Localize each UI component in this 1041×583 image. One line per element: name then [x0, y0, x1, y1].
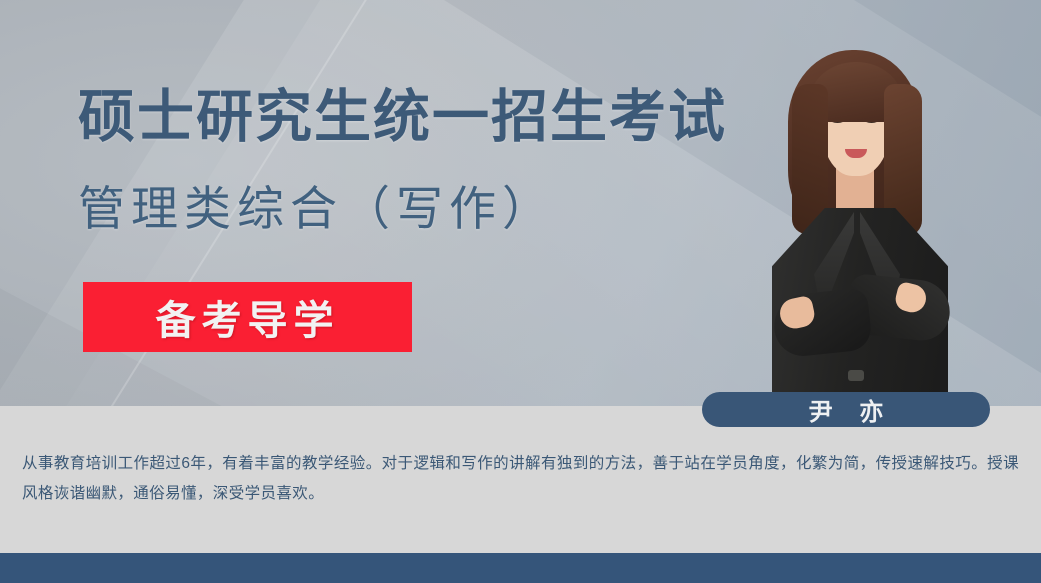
study-guide-badge: 备考导学 — [83, 282, 412, 352]
instructor-photo — [744, 26, 964, 406]
instructor-bio-band: 从事教育培训工作超过6年，有着丰富的教学经验。对于逻辑和写作的讲解有独到的方法，… — [0, 406, 1041, 553]
footer-bar — [0, 553, 1041, 583]
page-subtitle: 管理类综合（写作） — [78, 182, 555, 236]
portrait-jacket-button — [848, 370, 864, 381]
instructor-name-badge: 尹 亦 — [702, 392, 990, 427]
page-title: 硕士研究生统一招生考试 — [78, 88, 727, 148]
course-intro-slide: 硕士研究生统一招生考试 管理类综合（写作） 备考导学 尹 亦 从事教育培训工作超… — [0, 0, 1041, 583]
instructor-name-label: 尹 亦 — [799, 392, 894, 427]
study-guide-badge-label: 备考导学 — [156, 288, 340, 346]
instructor-bio-text: 从事教育培训工作超过6年，有着丰富的教学经验。对于逻辑和写作的讲解有独到的方法，… — [22, 449, 1019, 509]
